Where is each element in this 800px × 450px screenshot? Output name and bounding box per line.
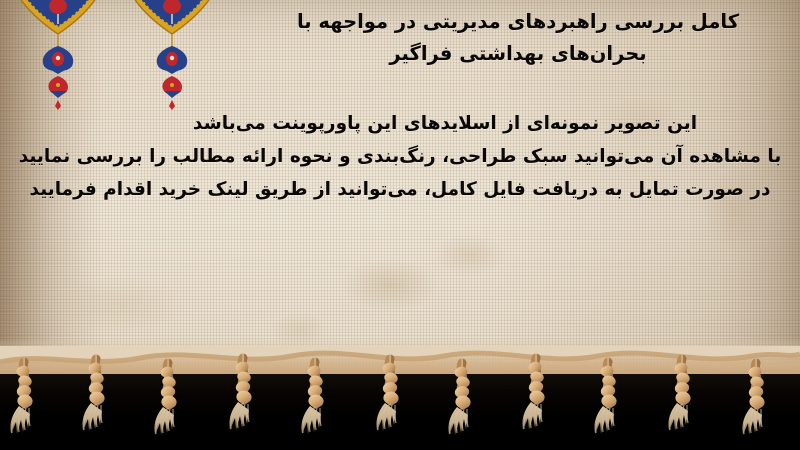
body-line: در صورت تمایل به دریافت فایل کامل، می‌تو…: [12, 178, 788, 202]
slide-body: این تصویر نمونه‌ای از اسلایدهای این پاور…: [12, 112, 788, 211]
body-line: این تصویر نمونه‌ای از اسلایدهای این پاور…: [12, 112, 788, 136]
body-line: با مشاهده آن می‌توانید سبک طراحی، رنگ‌بن…: [12, 145, 788, 169]
presentation-slide: کامل بررسی راهبردهای مدیریتی در مواجهه ب…: [0, 0, 800, 450]
slide-title: کامل بررسی راهبردهای مدیریتی در مواجهه ب…: [248, 6, 788, 69]
knotted-tassel-fringe: [0, 346, 800, 450]
